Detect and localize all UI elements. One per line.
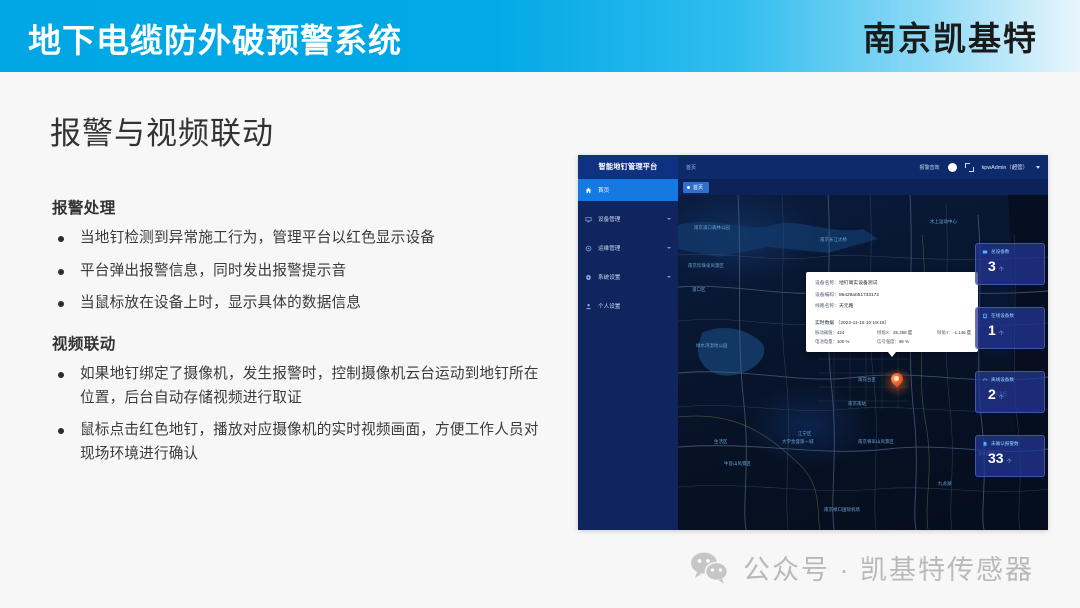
map-label: 生活区 <box>714 439 727 445</box>
stat-head: 总设备数 <box>982 249 1038 255</box>
divider <box>815 314 970 315</box>
metric-grid: 振动阈值：424 倾角X：25.298 度 倾角Y：-1.146 度 电池电量：… <box>815 330 970 346</box>
tab-strip: 首页 <box>678 179 1048 195</box>
map-label: 牛首山风景区 <box>724 461 751 467</box>
alarm-stat-icon <box>982 441 988 447</box>
map-label: 江宁区 <box>798 431 811 437</box>
map-label: 南京将军山风景区 <box>858 439 894 445</box>
sidebar-item-label: 个人设置 <box>598 302 620 310</box>
map-label: 南京长江大桥 <box>820 237 847 243</box>
stat-unit: 个 <box>1007 460 1012 465</box>
metric-value: 100 % <box>837 339 849 344</box>
metric-item: 倾角Y：-1.146 度 <box>937 330 971 336</box>
map-label: 绿水湾湿地公园 <box>696 343 727 349</box>
topbar-right-group: 报警音效 kpwAdmin（超管） <box>920 163 1048 172</box>
tab-home[interactable]: 首页 <box>683 182 709 193</box>
metric-item: 倾角X：25.298 度 <box>877 330 937 336</box>
metric-label: 倾角X： <box>877 330 893 335</box>
list-item: 当鼠标放在设备上时，显示具体的数据信息 <box>52 292 435 316</box>
online-stat-icon <box>982 313 988 319</box>
metric-value: 96 % <box>899 339 909 344</box>
metric-item: 电池电量：100 % <box>815 339 877 345</box>
metric-value: 25.298 度 <box>893 330 912 335</box>
chevron-down-icon[interactable] <box>1036 166 1040 169</box>
metric-label: 振动阈值： <box>815 330 837 335</box>
app-topbar: 智能地钉管理平台 首页 报警音效 kpwAdmin（超管） <box>578 155 1048 179</box>
alarm-device-marker[interactable] <box>890 373 904 391</box>
ops-icon <box>585 245 592 252</box>
stat-label: 总设备数 <box>991 249 1009 255</box>
app-sidebar: 首页 设备管理 运维管理 系统设置 <box>578 179 678 530</box>
stat-card-stack: 总设备数 3 个 在线设备数 <box>975 243 1045 477</box>
page-title: 报警与视频联动 <box>50 108 274 153</box>
user-menu-label[interactable]: kpwAdmin（超管） <box>982 163 1028 171</box>
metric-value: -1.146 度 <box>953 330 971 335</box>
chevron-down-icon <box>667 247 671 249</box>
home-icon <box>585 187 592 194</box>
tab-dot-icon <box>687 186 690 189</box>
stat-value-group: 3 个 <box>982 259 1038 273</box>
bullet-list: 当地钉检测到异常施工行为，管理平台以红色显示设备 平台弹出报警信息，同时发出报警… <box>52 227 435 316</box>
map-label: 浦口区 <box>692 287 705 293</box>
app-logo: 智能地钉管理平台 <box>578 155 678 179</box>
device-code-row: 设备编码：86429a051733172 <box>815 291 970 298</box>
map-label: 南京珍珠泉风景区 <box>688 263 724 269</box>
metric-value: 424 <box>837 330 844 335</box>
chevron-down-icon <box>667 218 671 220</box>
sidebar-item-home[interactable]: 首页 <box>578 179 678 201</box>
stat-head: 未确认报警数 <box>982 441 1038 447</box>
chevron-down-icon <box>667 276 671 278</box>
embedded-app-screenshot: 智能地钉管理平台 首页 报警音效 kpwAdmin（超管） 首页 设备管理 <box>578 155 1048 530</box>
device-name-value: 地钉寓实设备测试 <box>839 281 877 286</box>
alert-sound-label: 报警音效 <box>920 164 940 171</box>
map-canvas[interactable]: 南京长江大桥 南京浦口森林公园 水上运动中心 南京珍珠泉风景区 浦口区 绿水湾湿… <box>678 195 1048 530</box>
footer-watermark: 公众号 · 凯基特传感器 <box>690 548 1034 587</box>
metric-label: 信号强度： <box>877 339 899 344</box>
list-item: 如果地钉绑定了摄像机，发生报警时，控制摄像机云台运动到地钉所在位置，后台自动存储… <box>52 363 550 410</box>
alert-sound-toggle[interactable] <box>948 163 957 172</box>
sidebar-item-label: 设备管理 <box>598 215 620 223</box>
fullscreen-icon[interactable] <box>965 163 974 172</box>
stat-card-offline-devices[interactable]: 离线设备数 2 个 <box>975 371 1045 413</box>
stat-label: 在线设备数 <box>991 313 1014 319</box>
sidebar-item-system-settings[interactable]: 系统设置 <box>578 266 678 288</box>
app-main-area: 首页 <box>678 179 1048 530</box>
stat-head: 在线设备数 <box>982 313 1038 319</box>
metric-label: 倾角Y： <box>937 330 953 335</box>
bullet-list: 如果地钉绑定了摄像机，发生报警时，控制摄像机云台运动到地钉所在位置，后台自动存储… <box>52 363 550 467</box>
metric-item: 信号强度：96 % <box>877 339 937 345</box>
sidebar-item-personal-settings[interactable]: 个人设置 <box>578 295 678 317</box>
offline-stat-icon <box>982 377 988 383</box>
list-item: 鼠标点击红色地钉，播放对应摄像机的实时视频画面，方便工作人员对现场环境进行确认 <box>52 419 550 466</box>
stat-unit: 个 <box>999 332 1004 337</box>
tab-label: 首页 <box>693 184 703 191</box>
stat-value-group: 2 个 <box>982 387 1038 401</box>
sidebar-spacer <box>578 259 678 266</box>
stat-card-unconfirmed-alarms[interactable]: 未确认报警数 33 个 <box>975 435 1045 477</box>
stat-card-total-devices[interactable]: 总设备数 3 个 <box>975 243 1045 285</box>
stat-value: 3 <box>988 259 996 273</box>
device-stat-icon <box>982 249 988 255</box>
line-name-label: 线路名称： <box>815 304 839 309</box>
map-label: 大学金盛第一城 <box>782 439 813 445</box>
stat-value: 1 <box>988 323 996 337</box>
sidebar-spacer <box>578 230 678 237</box>
section-alarm-handling: 报警处理 当地钉检测到异常施工行为，管理平台以红色显示设备 平台弹出报警信息，同… <box>52 196 435 325</box>
map-label: 九龙湖 <box>938 481 951 487</box>
sidebar-spacer <box>578 201 678 208</box>
sidebar-item-label: 首页 <box>598 186 609 194</box>
sidebar-item-label: 系统设置 <box>598 273 620 281</box>
stat-value-group: 33 个 <box>982 451 1038 465</box>
realtime-timestamp: （2022-11-15 10:19:18） <box>836 321 890 326</box>
device-name-row: 设备名称：地钉寓实设备测试 <box>815 279 970 286</box>
map-label: 南京禄口国际机场 <box>824 507 860 513</box>
wechat-icon <box>690 551 730 585</box>
stat-card-online-devices[interactable]: 在线设备数 1 个 <box>975 307 1045 349</box>
breadcrumb: 首页 <box>686 164 696 171</box>
section-video-linkage: 视频联动 如果地钉绑定了摄像机，发生报警时，控制摄像机云台运动到地钉所在位置，后… <box>52 332 550 476</box>
list-item: 平台弹出报警信息，同时发出报警提示音 <box>52 260 435 284</box>
stat-value: 2 <box>988 387 996 401</box>
banner-title: 地下电缆防外破预警系统 <box>28 14 402 62</box>
realtime-label: 实时数据 <box>815 321 834 326</box>
sidebar-item-ops-management[interactable]: 运维管理 <box>578 237 678 259</box>
section-heading: 视频联动 <box>52 332 550 354</box>
page-banner: 地下电缆防外破预警系统 南京凯基特 <box>0 0 1080 72</box>
sidebar-item-label: 运维管理 <box>598 244 620 252</box>
map-label: 南京浦口森林公园 <box>694 225 730 231</box>
stat-head: 离线设备数 <box>982 377 1038 383</box>
footer-text: 公众号 · 凯基特传感器 <box>743 548 1034 587</box>
device-info-popup: 设备名称：地钉寓实设备测试 设备编码：86429a051733172 线路名称：… <box>806 272 978 352</box>
line-name-row: 线路名称：天元路 <box>815 302 970 309</box>
stat-unit: 个 <box>999 268 1004 273</box>
section-heading: 报警处理 <box>52 196 435 218</box>
device-icon <box>585 216 592 223</box>
metric-item-empty <box>937 339 971 345</box>
device-name-label: 设备名称： <box>815 281 839 286</box>
list-item: 当地钉检测到异常施工行为，管理平台以红色显示设备 <box>52 227 435 251</box>
device-code-value: 86429a051733172 <box>839 293 879 298</box>
sidebar-item-device-management[interactable]: 设备管理 <box>578 208 678 230</box>
metric-label: 电池电量： <box>815 339 837 344</box>
device-code-label: 设备编码： <box>815 293 839 298</box>
stat-label: 离线设备数 <box>991 377 1014 383</box>
stat-value: 33 <box>988 451 1004 465</box>
banner-brand: 南京凯基特 <box>863 12 1038 60</box>
line-name-value: 天元路 <box>839 304 853 309</box>
stat-value-group: 1 个 <box>982 323 1038 337</box>
sidebar-spacer <box>578 288 678 295</box>
gear-icon <box>585 274 592 281</box>
user-icon <box>585 303 592 310</box>
map-label: 水上运动中心 <box>930 219 957 225</box>
stat-label: 未确认报警数 <box>991 441 1019 447</box>
map-label: 南京南站 <box>848 401 866 407</box>
metric-item: 振动阈值：424 <box>815 330 877 336</box>
realtime-header: 实时数据 （2022-11-15 10:19:18） <box>815 319 970 326</box>
stat-unit: 个 <box>999 396 1004 401</box>
map-label: 雨花台区 <box>858 377 876 383</box>
